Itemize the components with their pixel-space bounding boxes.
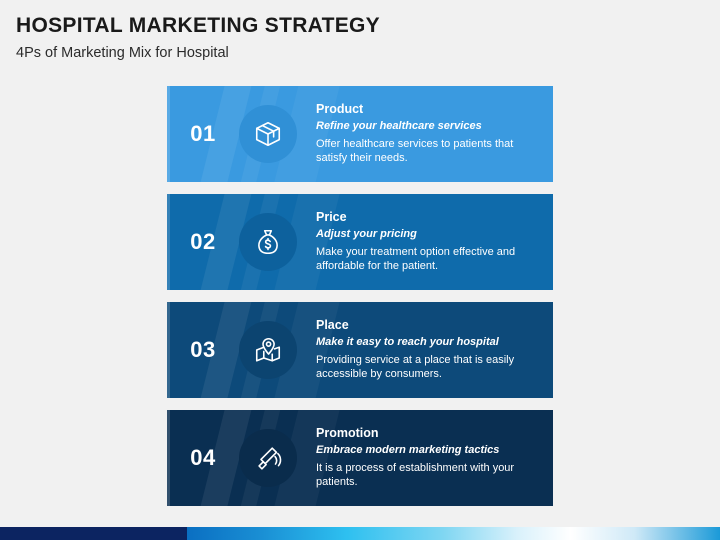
money-bag-icon [253, 227, 283, 257]
card-description: Providing service at a place that is eas… [316, 353, 534, 383]
card-number: 04 [167, 445, 239, 471]
card-number: 02 [167, 229, 239, 255]
card-description: Make your treatment option effective and… [316, 245, 534, 275]
package-box-icon [253, 119, 283, 149]
bottom-bar-gradient-segment [187, 527, 720, 540]
page-subtitle: 4Ps of Marketing Mix for Hospital [16, 46, 616, 62]
icon-circle [239, 429, 297, 487]
card-tagline: Make it easy to reach your hospital [316, 335, 543, 349]
page-title: HOSPITAL MARKETING STRATEGY [16, 14, 616, 37]
card-price[interactable]: 02 Price Adjust your pricing Make your t… [167, 194, 553, 290]
card-description: It is a process of establishment with yo… [316, 461, 534, 491]
map-location-pin-icon [253, 335, 283, 365]
card-tagline: Refine your healthcare services [316, 119, 543, 133]
card-description: Offer healthcare services to patients th… [316, 137, 534, 167]
card-text: Place Make it easy to reach your hospita… [316, 318, 553, 383]
slide-header: HOSPITAL MARKETING STRATEGY 4Ps of Marke… [16, 14, 616, 62]
card-heading: Place [316, 318, 543, 334]
card-product[interactable]: 01 Product Refine your healthcare servic… [167, 86, 553, 182]
icon-circle [239, 321, 297, 379]
card-text: Product Refine your healthcare services … [316, 102, 553, 167]
bottom-bar-navy-segment [0, 527, 187, 540]
marketing-mix-card-list: 01 Product Refine your healthcare servic… [167, 86, 553, 506]
icon-circle [239, 105, 297, 163]
card-number: 03 [167, 337, 239, 363]
icon-circle [239, 213, 297, 271]
card-promotion[interactable]: 04 Promotion Embrace modern marketing ta… [167, 410, 553, 506]
card-tagline: Embrace modern marketing tactics [316, 443, 543, 457]
card-text: Promotion Embrace modern marketing tacti… [316, 426, 553, 491]
card-tagline: Adjust your pricing [316, 227, 543, 241]
card-heading: Price [316, 210, 543, 226]
card-text: Price Adjust your pricing Make your trea… [316, 210, 553, 275]
card-heading: Promotion [316, 426, 543, 442]
megaphone-icon [253, 443, 283, 473]
card-heading: Product [316, 102, 543, 118]
bottom-accent-bar [0, 527, 720, 540]
card-number: 01 [167, 121, 239, 147]
card-place[interactable]: 03 Place Make it easy to reach your hosp… [167, 302, 553, 398]
